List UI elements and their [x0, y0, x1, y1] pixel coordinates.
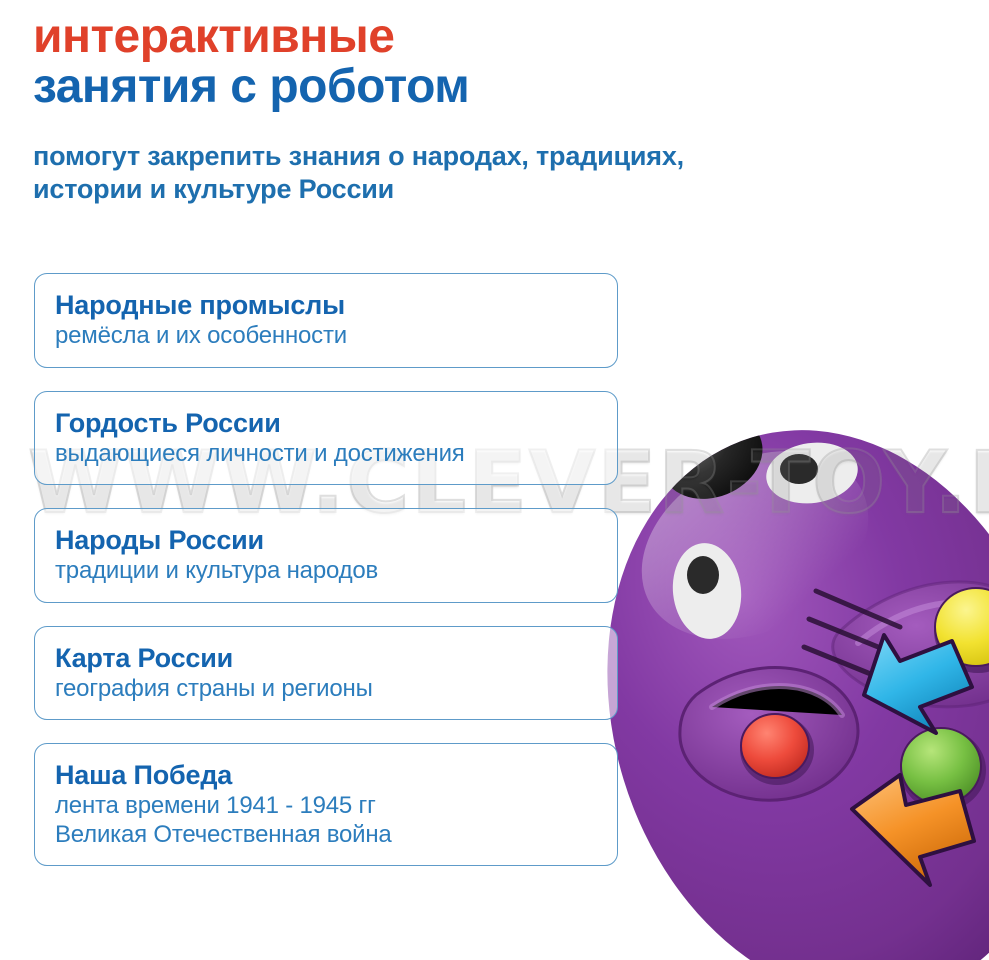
card-title: Карта России	[55, 643, 599, 673]
feature-card-karta-rossii[interactable]: Карта России география страны и регионы	[34, 626, 618, 721]
card-title: Наша Победа	[55, 760, 599, 790]
subtitle-line-2: истории и культуре России	[33, 173, 684, 206]
feature-card-gordost-rossii[interactable]: Гордость России выдающиеся личности и до…	[34, 391, 618, 486]
card-subtitle: география страны и регионы	[55, 675, 599, 703]
card-subtitle: выдающиеся личности и достижения	[55, 440, 599, 468]
page-title: интерактивные занятия с роботом	[33, 14, 469, 110]
feature-card-narody-rossii[interactable]: Народы России традиции и культура народо…	[34, 508, 618, 603]
promo-banner: WWW.CLEVER-TOY.RU интерактивные занятия …	[0, 0, 989, 960]
feature-card-nasha-pobeda[interactable]: Наша Победа лента времени 1941 - 1945 гг…	[34, 743, 618, 866]
card-subtitle-line-2: Великая Отечественная война	[55, 821, 599, 849]
card-subtitle: лента времени 1941 - 1945 гг Великая Оте…	[55, 792, 599, 849]
card-title: Народы России	[55, 525, 599, 555]
card-subtitle-line-1: лента времени 1941 - 1945 гг	[55, 792, 599, 820]
feature-card-narodnye-promysly[interactable]: Народные промыслы ремёсла и их особеннос…	[34, 273, 618, 368]
card-title: Народные промыслы	[55, 290, 599, 320]
card-subtitle-line-1: география страны и регионы	[55, 675, 599, 703]
feature-card-list: Народные промыслы ремёсла и их особеннос…	[34, 273, 618, 889]
card-subtitle: традиции и культура народов	[55, 557, 599, 585]
headline-line-2: занятия с роботом	[33, 64, 469, 110]
card-title: Гордость России	[55, 408, 599, 438]
headline-line-1: интерактивные	[33, 14, 469, 60]
card-subtitle-line-1: традиции и культура народов	[55, 557, 599, 585]
card-subtitle-line-1: ремёсла и их особенности	[55, 322, 599, 350]
card-subtitle-line-1: выдающиеся личности и достижения	[55, 440, 599, 468]
card-subtitle: ремёсла и их особенности	[55, 322, 599, 350]
subtitle-line-1: помогут закрепить знания о народах, трад…	[33, 140, 684, 173]
page-subtitle: помогут закрепить знания о народах, трад…	[33, 140, 684, 206]
robot-toy-illustration	[600, 395, 989, 960]
